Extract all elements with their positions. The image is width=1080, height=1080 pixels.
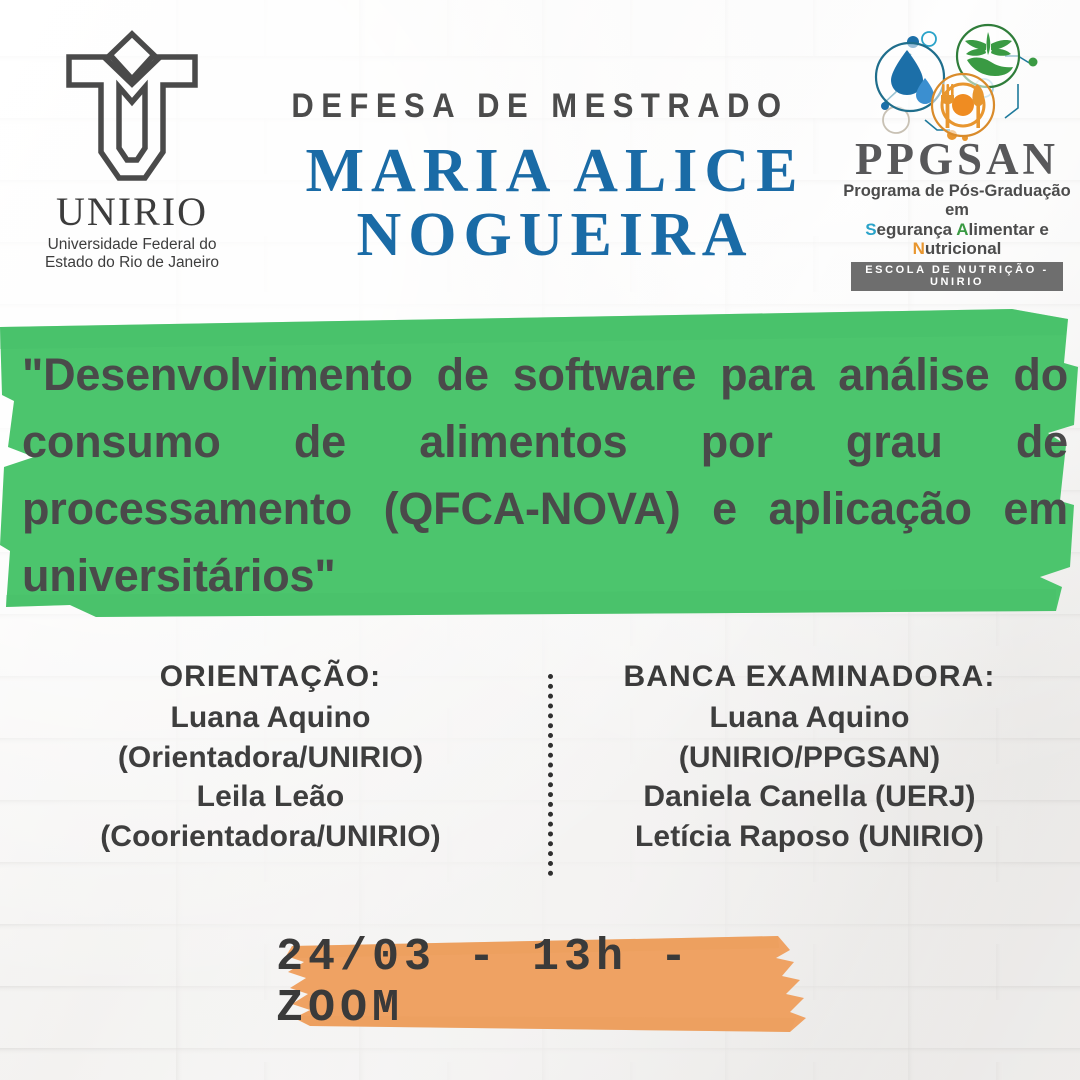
poster-header: UNIRIO Universidade Federal do Estado do… (0, 0, 1080, 300)
student-name-line2: NOGUEIRA (170, 204, 940, 268)
ppgsan-tagline-line1: Programa de Pós-Graduação em (842, 182, 1072, 220)
ppgsan-icon-cluster (855, 22, 1060, 142)
people-section: ORIENTAÇÃO: Luana Aquino (Orientadora/UN… (0, 660, 1080, 910)
ppgsan-school-bar: ESCOLA DE NUTRIÇÃO - UNIRIO (851, 262, 1063, 291)
committee-entry: Luana Aquino (557, 698, 1062, 738)
ppgsan-logo: PPGSAN Programa de Pós-Graduação em Segu… (842, 22, 1072, 291)
ppgsan-alimentar: limentar e (969, 220, 1049, 239)
student-name: MARIA ALICE NOGUEIRA (170, 140, 940, 268)
ppgsan-nutricional: utricional (925, 239, 1002, 258)
committee-entry: (UNIRIO/PPGSAN) (557, 738, 1062, 778)
student-name-line1: MARIA ALICE (170, 140, 940, 204)
committee-column: BANCA EXAMINADORA: Luana Aquino (UNIRIO/… (557, 660, 1062, 856)
ppgsan-n: N (913, 239, 925, 258)
ppgsan-tagline-line2: Segurança Alimentar e Nutricional (842, 220, 1072, 259)
thesis-banner: "Desenvolvimento de software para anális… (0, 305, 1080, 620)
advisor-entry: (Orientadora/UNIRIO) (18, 738, 523, 778)
column-divider (548, 674, 553, 876)
advisor-entry: (Coorientadora/UNIRIO) (18, 817, 523, 857)
ppgsan-a: A (956, 220, 968, 239)
advisors-column: ORIENTAÇÃO: Luana Aquino (Orientadora/UN… (18, 660, 523, 856)
committee-entry: Letícia Raposo (UNIRIO) (557, 817, 1062, 857)
event-datetime-banner: 24/03 - 13h - ZOOM (270, 928, 830, 1038)
ppgsan-seguranca: egurança (877, 220, 957, 239)
advisors-heading: ORIENTAÇÃO: (18, 660, 523, 694)
committee-heading: BANCA EXAMINADORA: (557, 660, 1062, 694)
poster-canvas: UNIRIO Universidade Federal do Estado do… (0, 0, 1080, 1080)
ppgsan-wordmark: PPGSAN (842, 138, 1072, 181)
advisor-entry: Luana Aquino (18, 698, 523, 738)
thesis-title: "Desenvolvimento de software para anális… (22, 341, 1068, 609)
ppgsan-s: S (865, 220, 876, 239)
committee-entry: Daniela Canella (UERJ) (557, 777, 1062, 817)
event-datetime-text: 24/03 - 13h - ZOOM (270, 928, 830, 1038)
advisor-entry: Leila Leão (18, 777, 523, 817)
